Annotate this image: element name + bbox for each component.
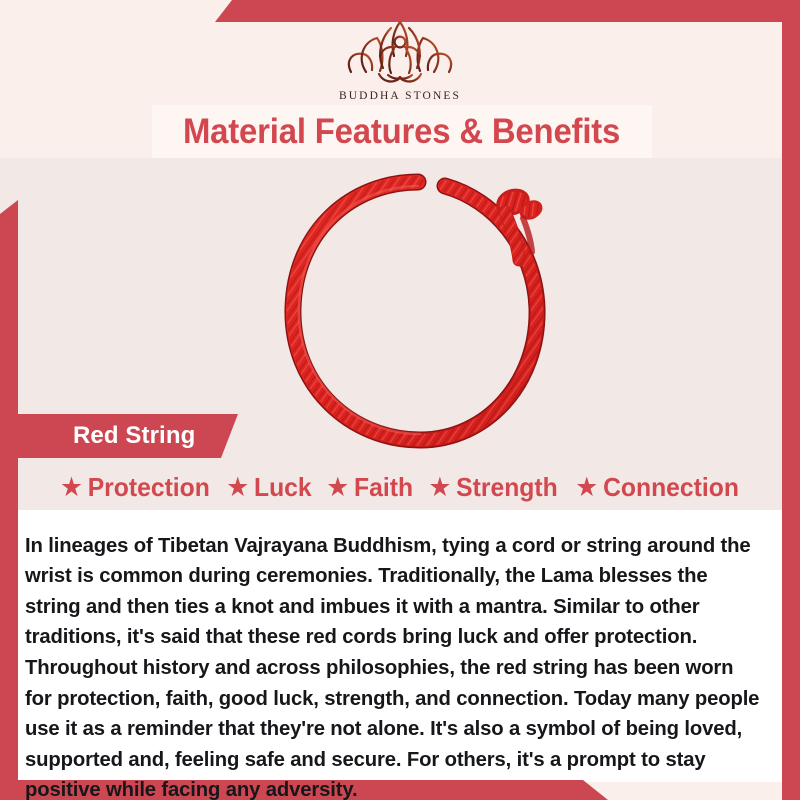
product-image (255, 168, 585, 468)
decor-bar-right (782, 22, 800, 800)
star-icon: ★ (326, 474, 349, 501)
title-banner: Material Features & Benefits (152, 105, 652, 158)
star-icon: ★ (226, 474, 249, 501)
benefit-label: Faith (354, 472, 413, 503)
benefits-row: ★ Protection ★ Luck ★ Faith ★ Strength ★… (0, 466, 800, 508)
benefit-label: Strength (457, 472, 559, 503)
bracelet-loop (293, 182, 537, 440)
description-text: In lineages of Tibetan Vajrayana Buddhis… (25, 531, 764, 800)
star-icon: ★ (576, 474, 599, 501)
benefit-item: ★ Luck (226, 472, 311, 503)
benefit-item: ★ Strength (429, 472, 558, 503)
brand-logo: BUDDHA STONES (0, 16, 800, 102)
material-label-banner: Red String (18, 414, 238, 458)
star-icon: ★ (60, 474, 83, 501)
star-icon: ★ (429, 474, 452, 501)
lotus-meditation-figure-icon (0, 16, 800, 88)
benefit-label: Protection (88, 472, 210, 503)
benefit-item: ★ Faith (326, 472, 413, 503)
benefit-label: Connection (604, 472, 740, 503)
benefit-item: ★ Connection (576, 472, 740, 503)
material-label: Red String (73, 422, 195, 450)
infographic-page: BUDDHA STONES Material Features & Benefi… (0, 0, 800, 800)
benefit-item: ★ Protection (60, 472, 210, 503)
benefit-label: Luck (254, 472, 312, 503)
brand-name: BUDDHA STONES (0, 90, 800, 102)
page-title: Material Features & Benefits (183, 112, 620, 152)
